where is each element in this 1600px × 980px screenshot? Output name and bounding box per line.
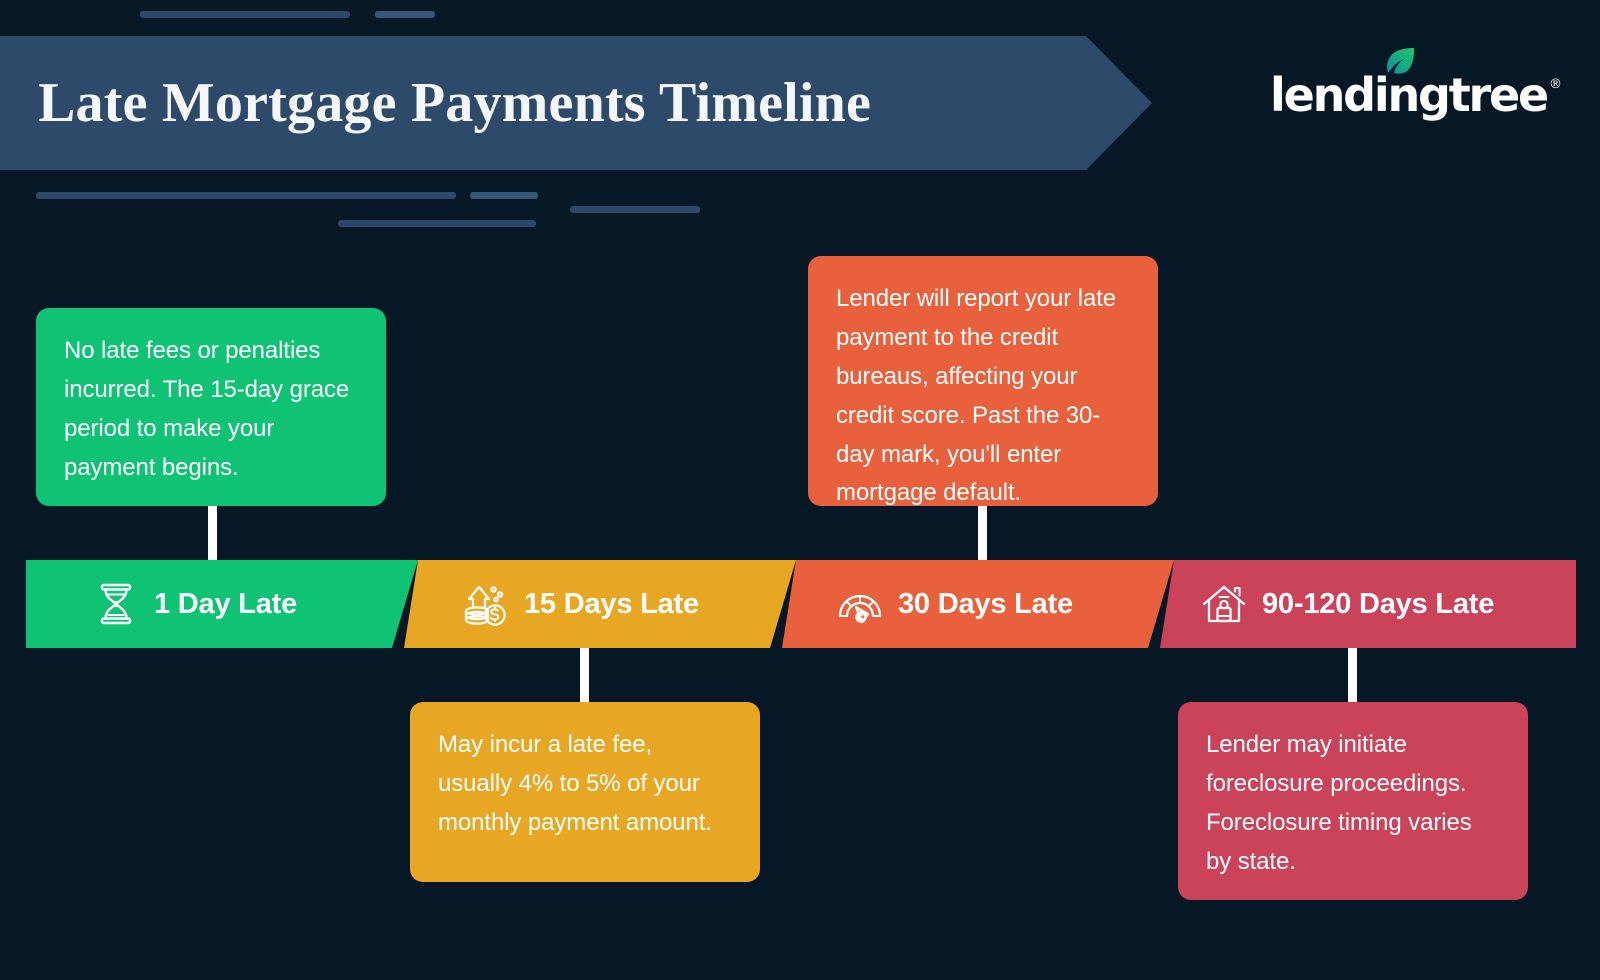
timeline-segment-30-days-late[interactable]: 30 Days Late [782, 560, 1174, 648]
decor-bar-top-2 [375, 11, 435, 18]
card-text: May incur a late fee, usually 4% to 5% o… [438, 731, 712, 836]
credit-gauge-icon [836, 580, 884, 628]
connector-line-4 [1348, 646, 1357, 704]
infographic-root: Late Mortgage Payments Timeline lendingt… [0, 0, 1600, 980]
connector-line-2 [580, 646, 589, 704]
card-text: No late fees or penalties incurred. The … [64, 337, 349, 481]
decor-bar-mid-3 [570, 206, 700, 213]
hourglass-icon [92, 580, 140, 628]
timeline-segment-15-days-late[interactable]: 15 Days Late [404, 560, 796, 648]
coins-dollar-icon [462, 580, 510, 628]
timeline-segment-1-day-late[interactable]: 1 Day Late [26, 560, 418, 648]
card-90-120-days-late: Lender may initiate foreclosure proceedi… [1178, 702, 1528, 900]
timeline-segment-label: 30 Days Late [898, 588, 1073, 621]
card-text: Lender will report your late payment to … [836, 285, 1116, 506]
timeline-segment-90-120-days-late[interactable]: 90-120 Days Late [1160, 560, 1576, 648]
decor-bar-top-1 [140, 11, 350, 18]
header-banner: Late Mortgage Payments Timeline [0, 36, 1152, 170]
card-text: Lender may initiate foreclosure proceedi… [1206, 731, 1472, 875]
connector-line-1 [208, 503, 217, 561]
decor-bar-mid-2 [470, 192, 538, 199]
timeline-segment-label: 1 Day Late [154, 588, 297, 621]
registered-trademark-icon: ® [1549, 77, 1562, 92]
timeline-bar: 1 Day Late 1 [0, 560, 1600, 648]
house-lock-icon [1200, 580, 1248, 628]
card-30-days-late: Lender will report your late payment to … [808, 256, 1158, 506]
timeline-segment-label: 90-120 Days Late [1262, 588, 1494, 621]
card-1-day-late: No late fees or penalties incurred. The … [36, 308, 386, 506]
page-title: Late Mortgage Payments Timeline [38, 71, 871, 135]
card-15-days-late: May incur a late fee, usually 4% to 5% o… [410, 702, 760, 882]
decor-bar-mid-1 [36, 192, 456, 199]
lendingtree-logo: lendingtree ® [1270, 72, 1562, 118]
leaf-icon [1384, 46, 1418, 80]
decor-bar-mid-4 [338, 220, 536, 227]
timeline-segment-label: 15 Days Late [524, 588, 699, 621]
